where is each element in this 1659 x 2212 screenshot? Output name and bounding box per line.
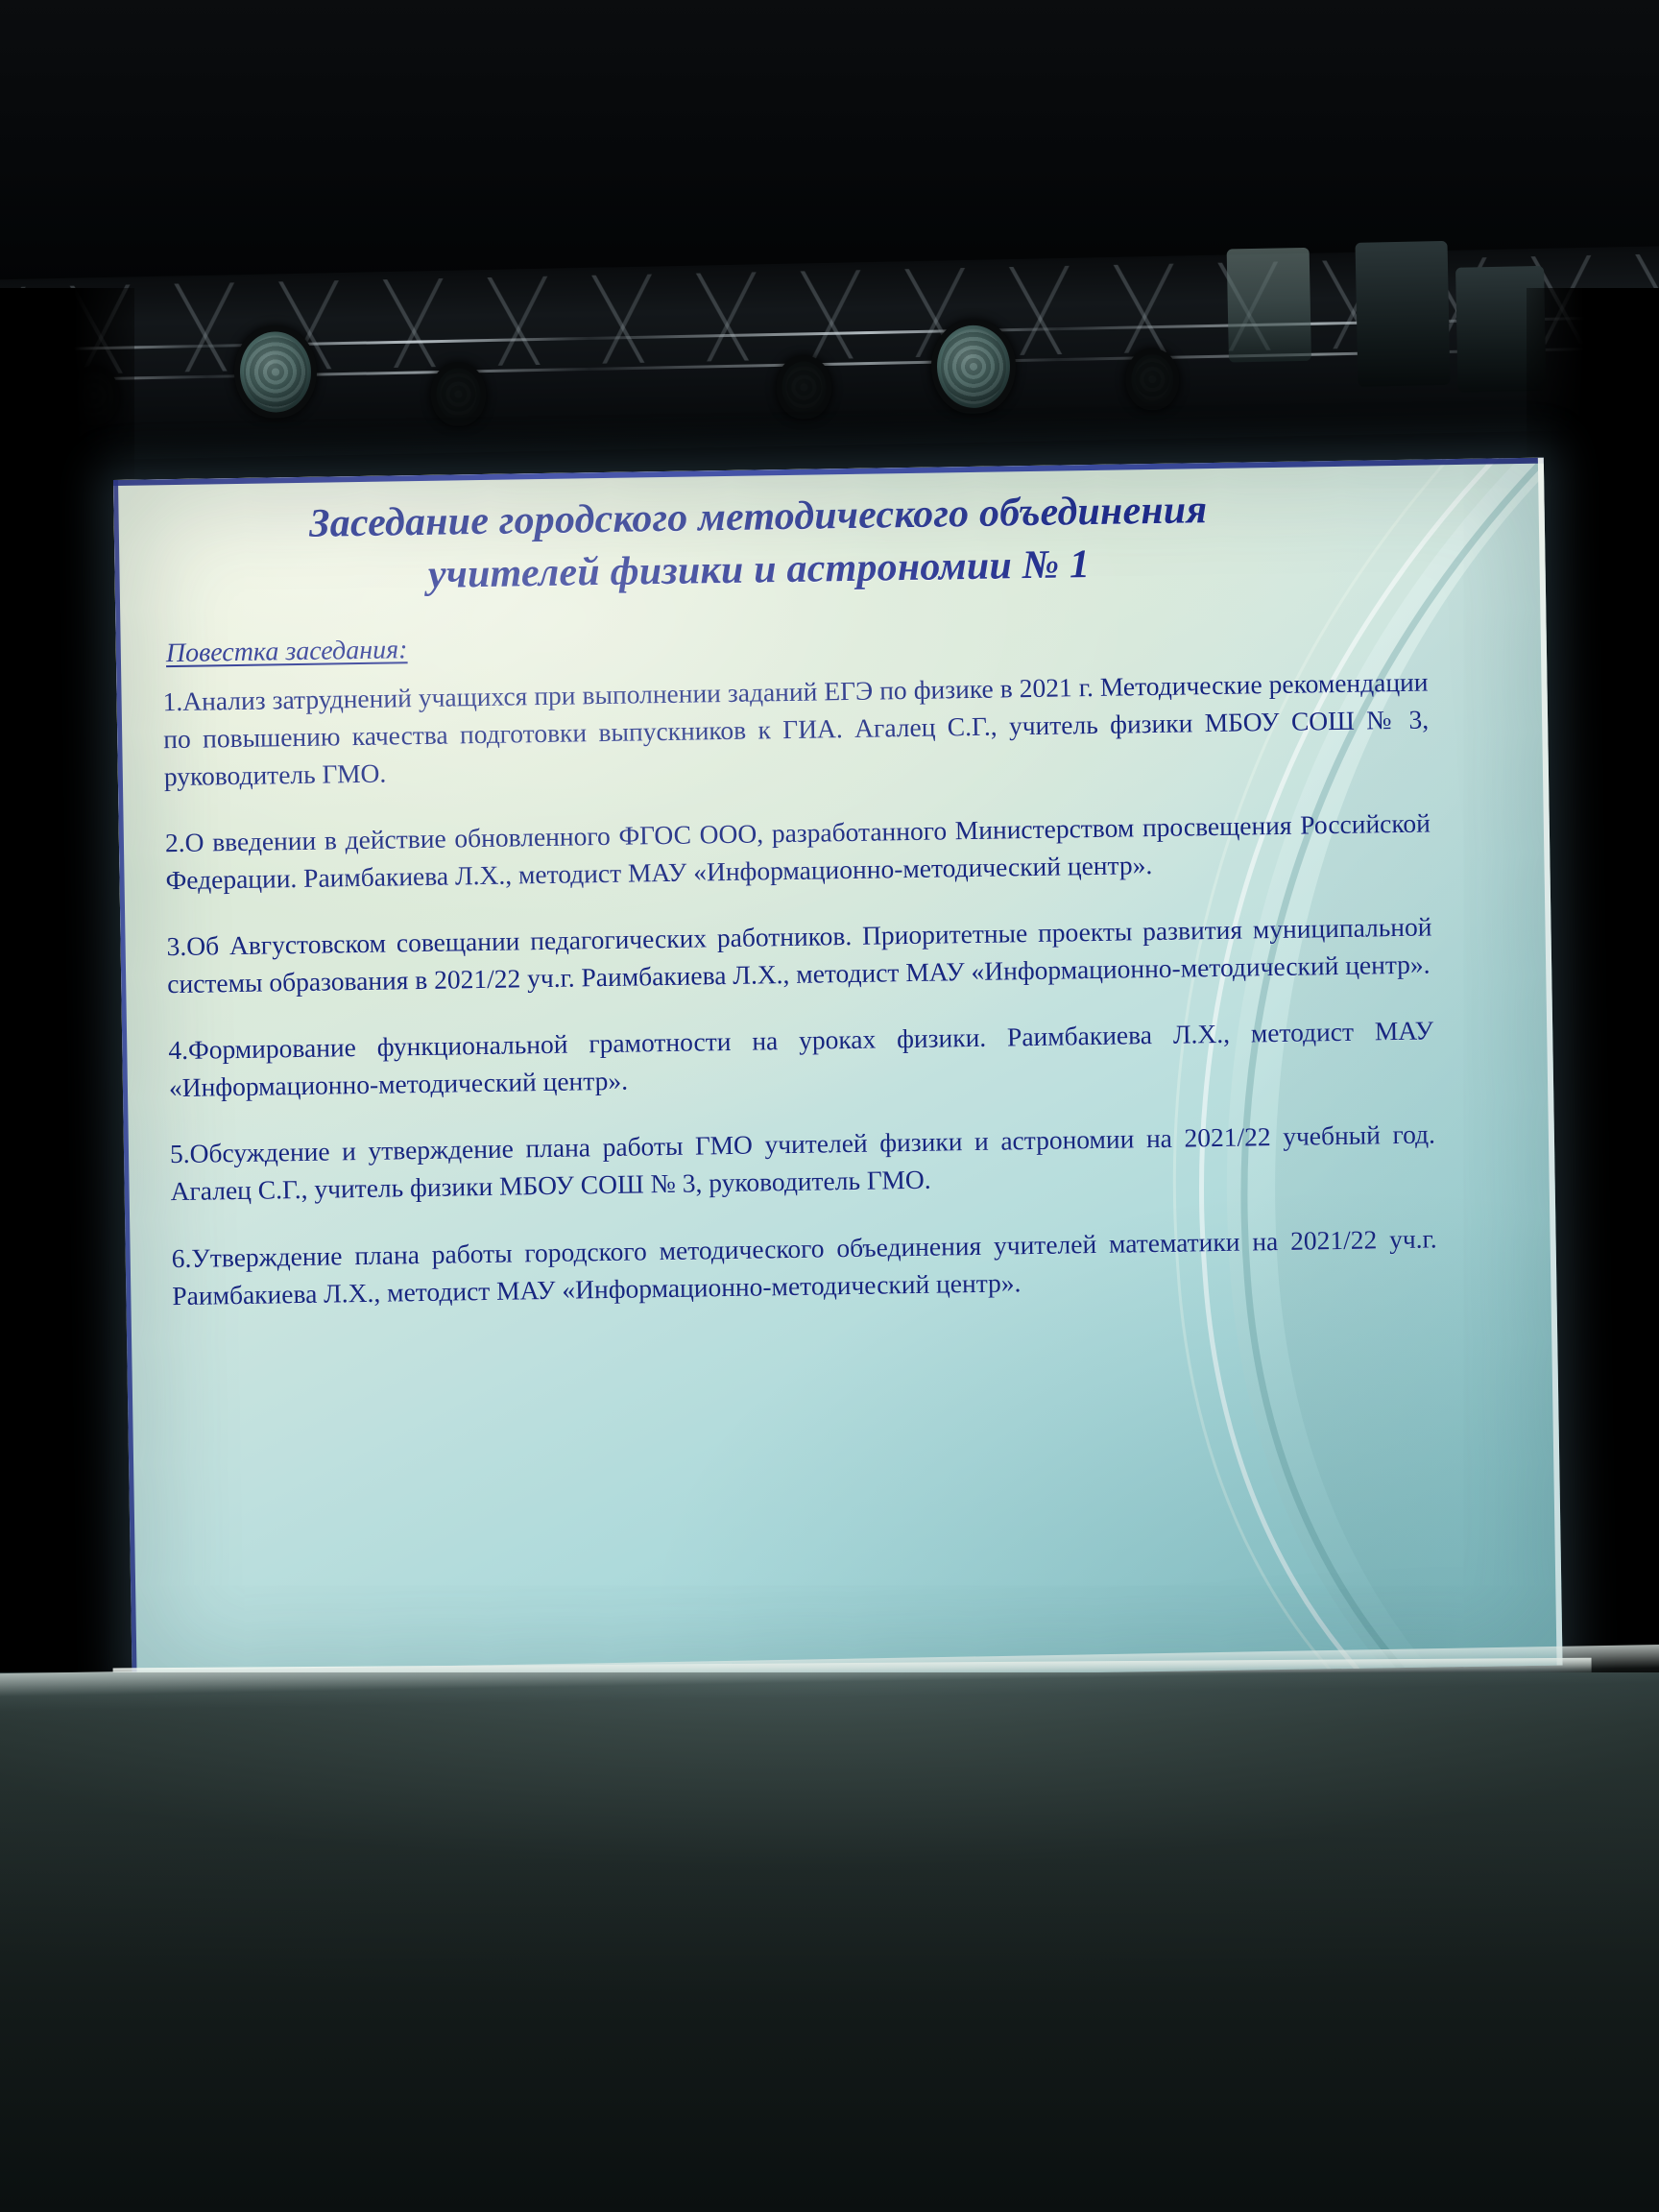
slide-title: Заседание городского методического объед… <box>205 482 1311 604</box>
stage-light-icon <box>1125 349 1180 411</box>
agenda-heading: Повестка заседания: <box>166 635 408 669</box>
stage-light-icon <box>233 325 318 420</box>
agenda-item-4: 4.Формирование функциональной грамотност… <box>168 1012 1434 1107</box>
agenda-list: 1.Анализ затруднений учащихся при выполн… <box>162 663 1437 1314</box>
agenda-item-1: 1.Анализ затруднений учащихся при выполн… <box>162 663 1430 796</box>
projection-screen: Заседание городского методического объед… <box>113 458 1563 1690</box>
par-can-icon <box>1356 241 1451 387</box>
agenda-item-3: 3.Об Августовском совещании педагогическ… <box>166 908 1432 1003</box>
auditorium-photo: Заседание городского методического объед… <box>0 0 1659 2212</box>
slide-surface: Заседание городского методического объед… <box>113 458 1563 1688</box>
agenda-item-6: 6.Утверждение плана работы городского ме… <box>171 1219 1437 1314</box>
stage-light-icon <box>776 355 832 420</box>
lighting-truss <box>0 246 1659 463</box>
par-can-icon <box>1227 248 1311 363</box>
agenda-item-2: 2.О введении в действие обновленного ФГО… <box>165 805 1431 900</box>
stage-light-icon <box>430 362 487 426</box>
agenda-item-5: 5.Обсуждение и утверждение плана работы … <box>170 1116 1436 1211</box>
floor-reflection <box>0 1672 1659 2212</box>
stage-light-icon <box>930 319 1017 415</box>
stage-floor <box>0 1672 1659 2212</box>
